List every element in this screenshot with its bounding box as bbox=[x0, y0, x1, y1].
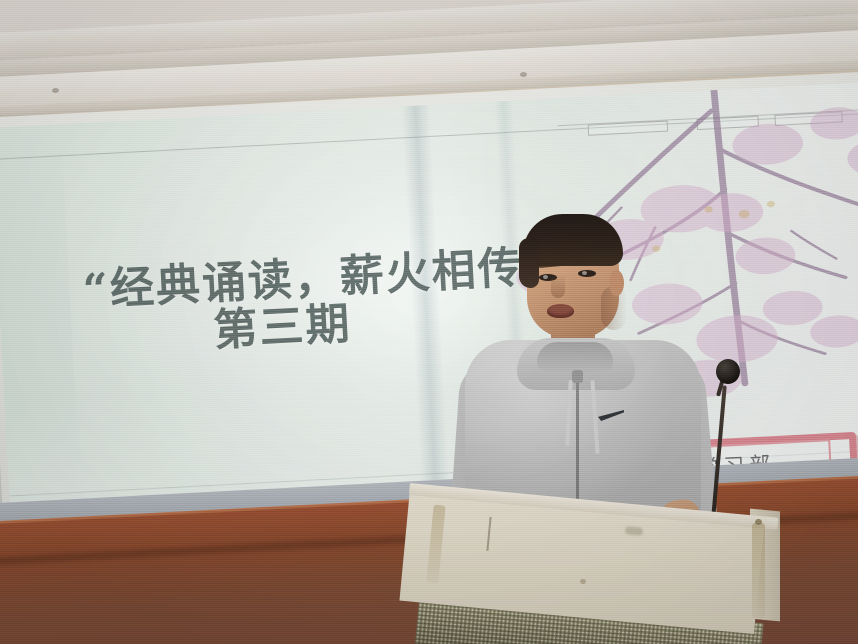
eye-right bbox=[578, 270, 596, 277]
podium-wear-mark-right bbox=[752, 523, 765, 618]
podium bbox=[410, 483, 780, 644]
eye-highlight bbox=[543, 275, 548, 279]
slide-subtitle-line: 第三期 bbox=[212, 288, 353, 359]
hood-opening bbox=[537, 342, 613, 372]
ear bbox=[609, 270, 624, 296]
photo-scene: “经典诵读，薪火相传” 第三期 学习部 bbox=[0, 0, 858, 644]
screen-seam bbox=[401, 105, 450, 498]
nose bbox=[551, 274, 565, 298]
zipper-pull bbox=[572, 370, 583, 383]
mouth bbox=[547, 304, 574, 318]
projection-screen: “经典诵读，薪火相传” 第三期 bbox=[0, 82, 858, 520]
microphone-icon bbox=[716, 359, 740, 384]
sideburn bbox=[519, 238, 539, 288]
eye-highlight bbox=[582, 271, 587, 275]
podium-screw bbox=[755, 519, 762, 525]
podium-smudge bbox=[625, 526, 644, 536]
